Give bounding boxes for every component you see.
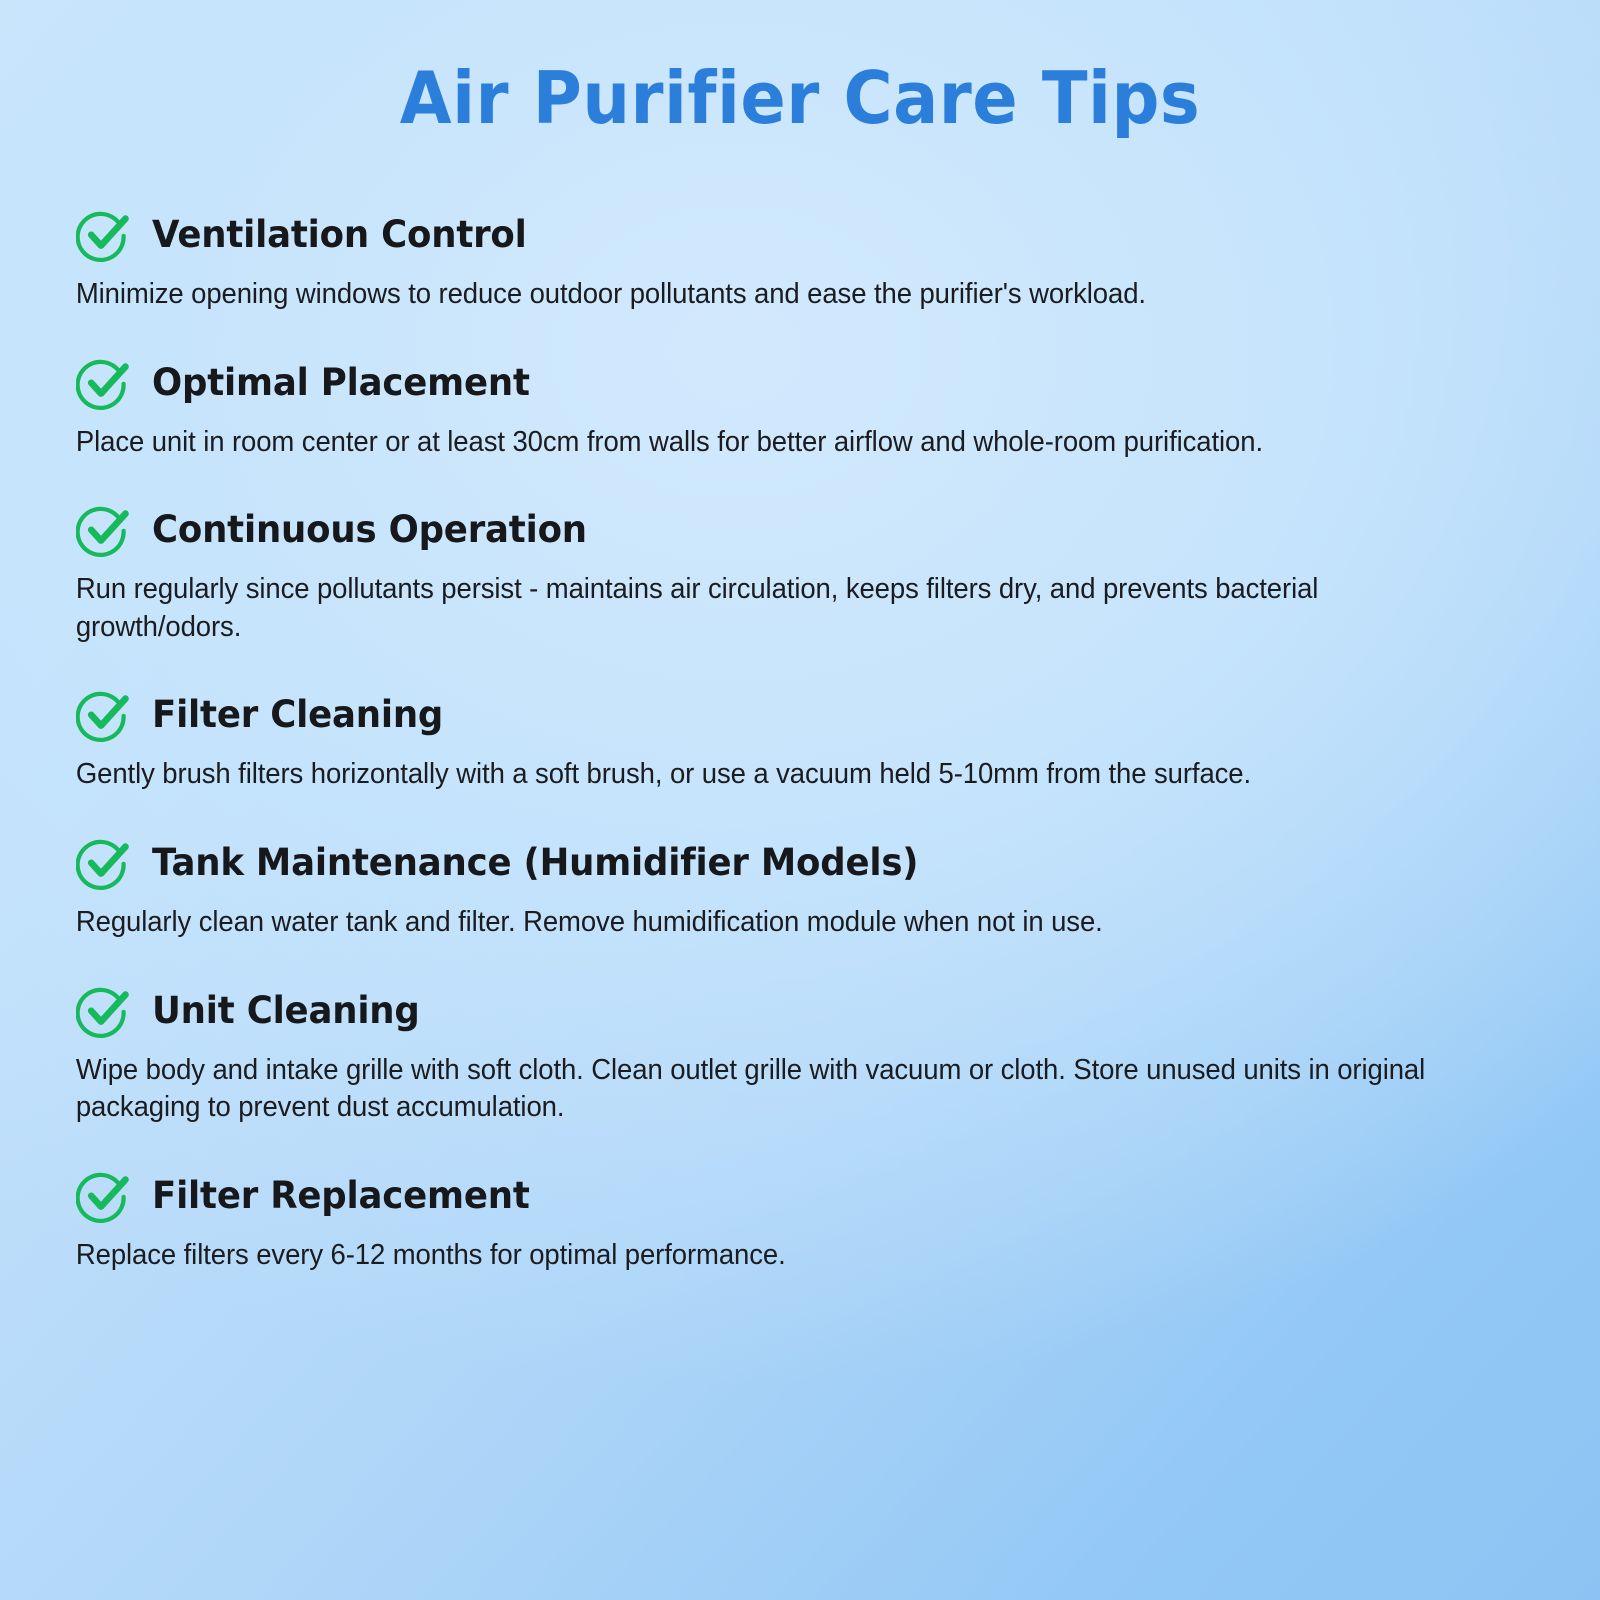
tip-header: Unit Cleaning	[72, 984, 1528, 1038]
tip-description: Gently brush filters horizontally with a…	[72, 756, 1477, 794]
check-circle-icon	[76, 984, 130, 1038]
tip-header: Filter Cleaning	[72, 688, 1528, 742]
tip-description: Replace filters every 6-12 months for op…	[72, 1237, 1477, 1275]
tip-description: Run regularly since pollutants persist -…	[72, 571, 1477, 646]
tip-description: Wipe body and intake grille with soft cl…	[72, 1052, 1477, 1127]
tips-list: Ventilation Control Minimize opening win…	[72, 208, 1528, 1274]
tip-item-1: Optimal Placement Place unit in room cen…	[72, 356, 1528, 462]
check-circle-icon	[76, 356, 130, 410]
tip-title: Filter Replacement	[152, 1176, 530, 1216]
check-circle-icon	[76, 503, 130, 557]
tip-item-0: Ventilation Control Minimize opening win…	[72, 208, 1528, 314]
tip-header: Filter Replacement	[72, 1169, 1528, 1223]
tip-title: Unit Cleaning	[152, 991, 420, 1031]
tip-description: Regularly clean water tank and filter. R…	[72, 904, 1477, 942]
check-circle-icon	[76, 688, 130, 742]
tip-item-6: Filter Replacement Replace filters every…	[72, 1169, 1528, 1275]
tip-description: Place unit in room center or at least 30…	[72, 424, 1477, 462]
tip-title: Continuous Operation	[152, 510, 587, 550]
tip-title: Ventilation Control	[152, 215, 527, 255]
tip-header: Optimal Placement	[72, 356, 1528, 410]
infographic-page: Air Purifier Care Tips Ventilation Contr…	[0, 0, 1600, 1600]
check-circle-icon	[76, 836, 130, 890]
tip-title: Optimal Placement	[152, 363, 530, 403]
check-circle-icon	[76, 1169, 130, 1223]
tip-item-3: Filter Cleaning Gently brush filters hor…	[72, 688, 1528, 794]
tip-item-2: Continuous Operation Run regularly since…	[72, 503, 1528, 646]
tip-header: Ventilation Control	[72, 208, 1528, 262]
page-title: Air Purifier Care Tips	[123, 0, 1477, 134]
tip-description: Minimize opening windows to reduce outdo…	[72, 276, 1477, 314]
tip-title: Filter Cleaning	[152, 695, 443, 735]
tip-item-5: Unit Cleaning Wipe body and intake grill…	[72, 984, 1528, 1127]
tip-item-4: Tank Maintenance (Humidifier Models) Reg…	[72, 836, 1528, 942]
tip-header: Tank Maintenance (Humidifier Models)	[72, 836, 1528, 890]
check-circle-icon	[76, 208, 130, 262]
tip-title: Tank Maintenance (Humidifier Models)	[152, 843, 918, 883]
tip-header: Continuous Operation	[72, 503, 1528, 557]
